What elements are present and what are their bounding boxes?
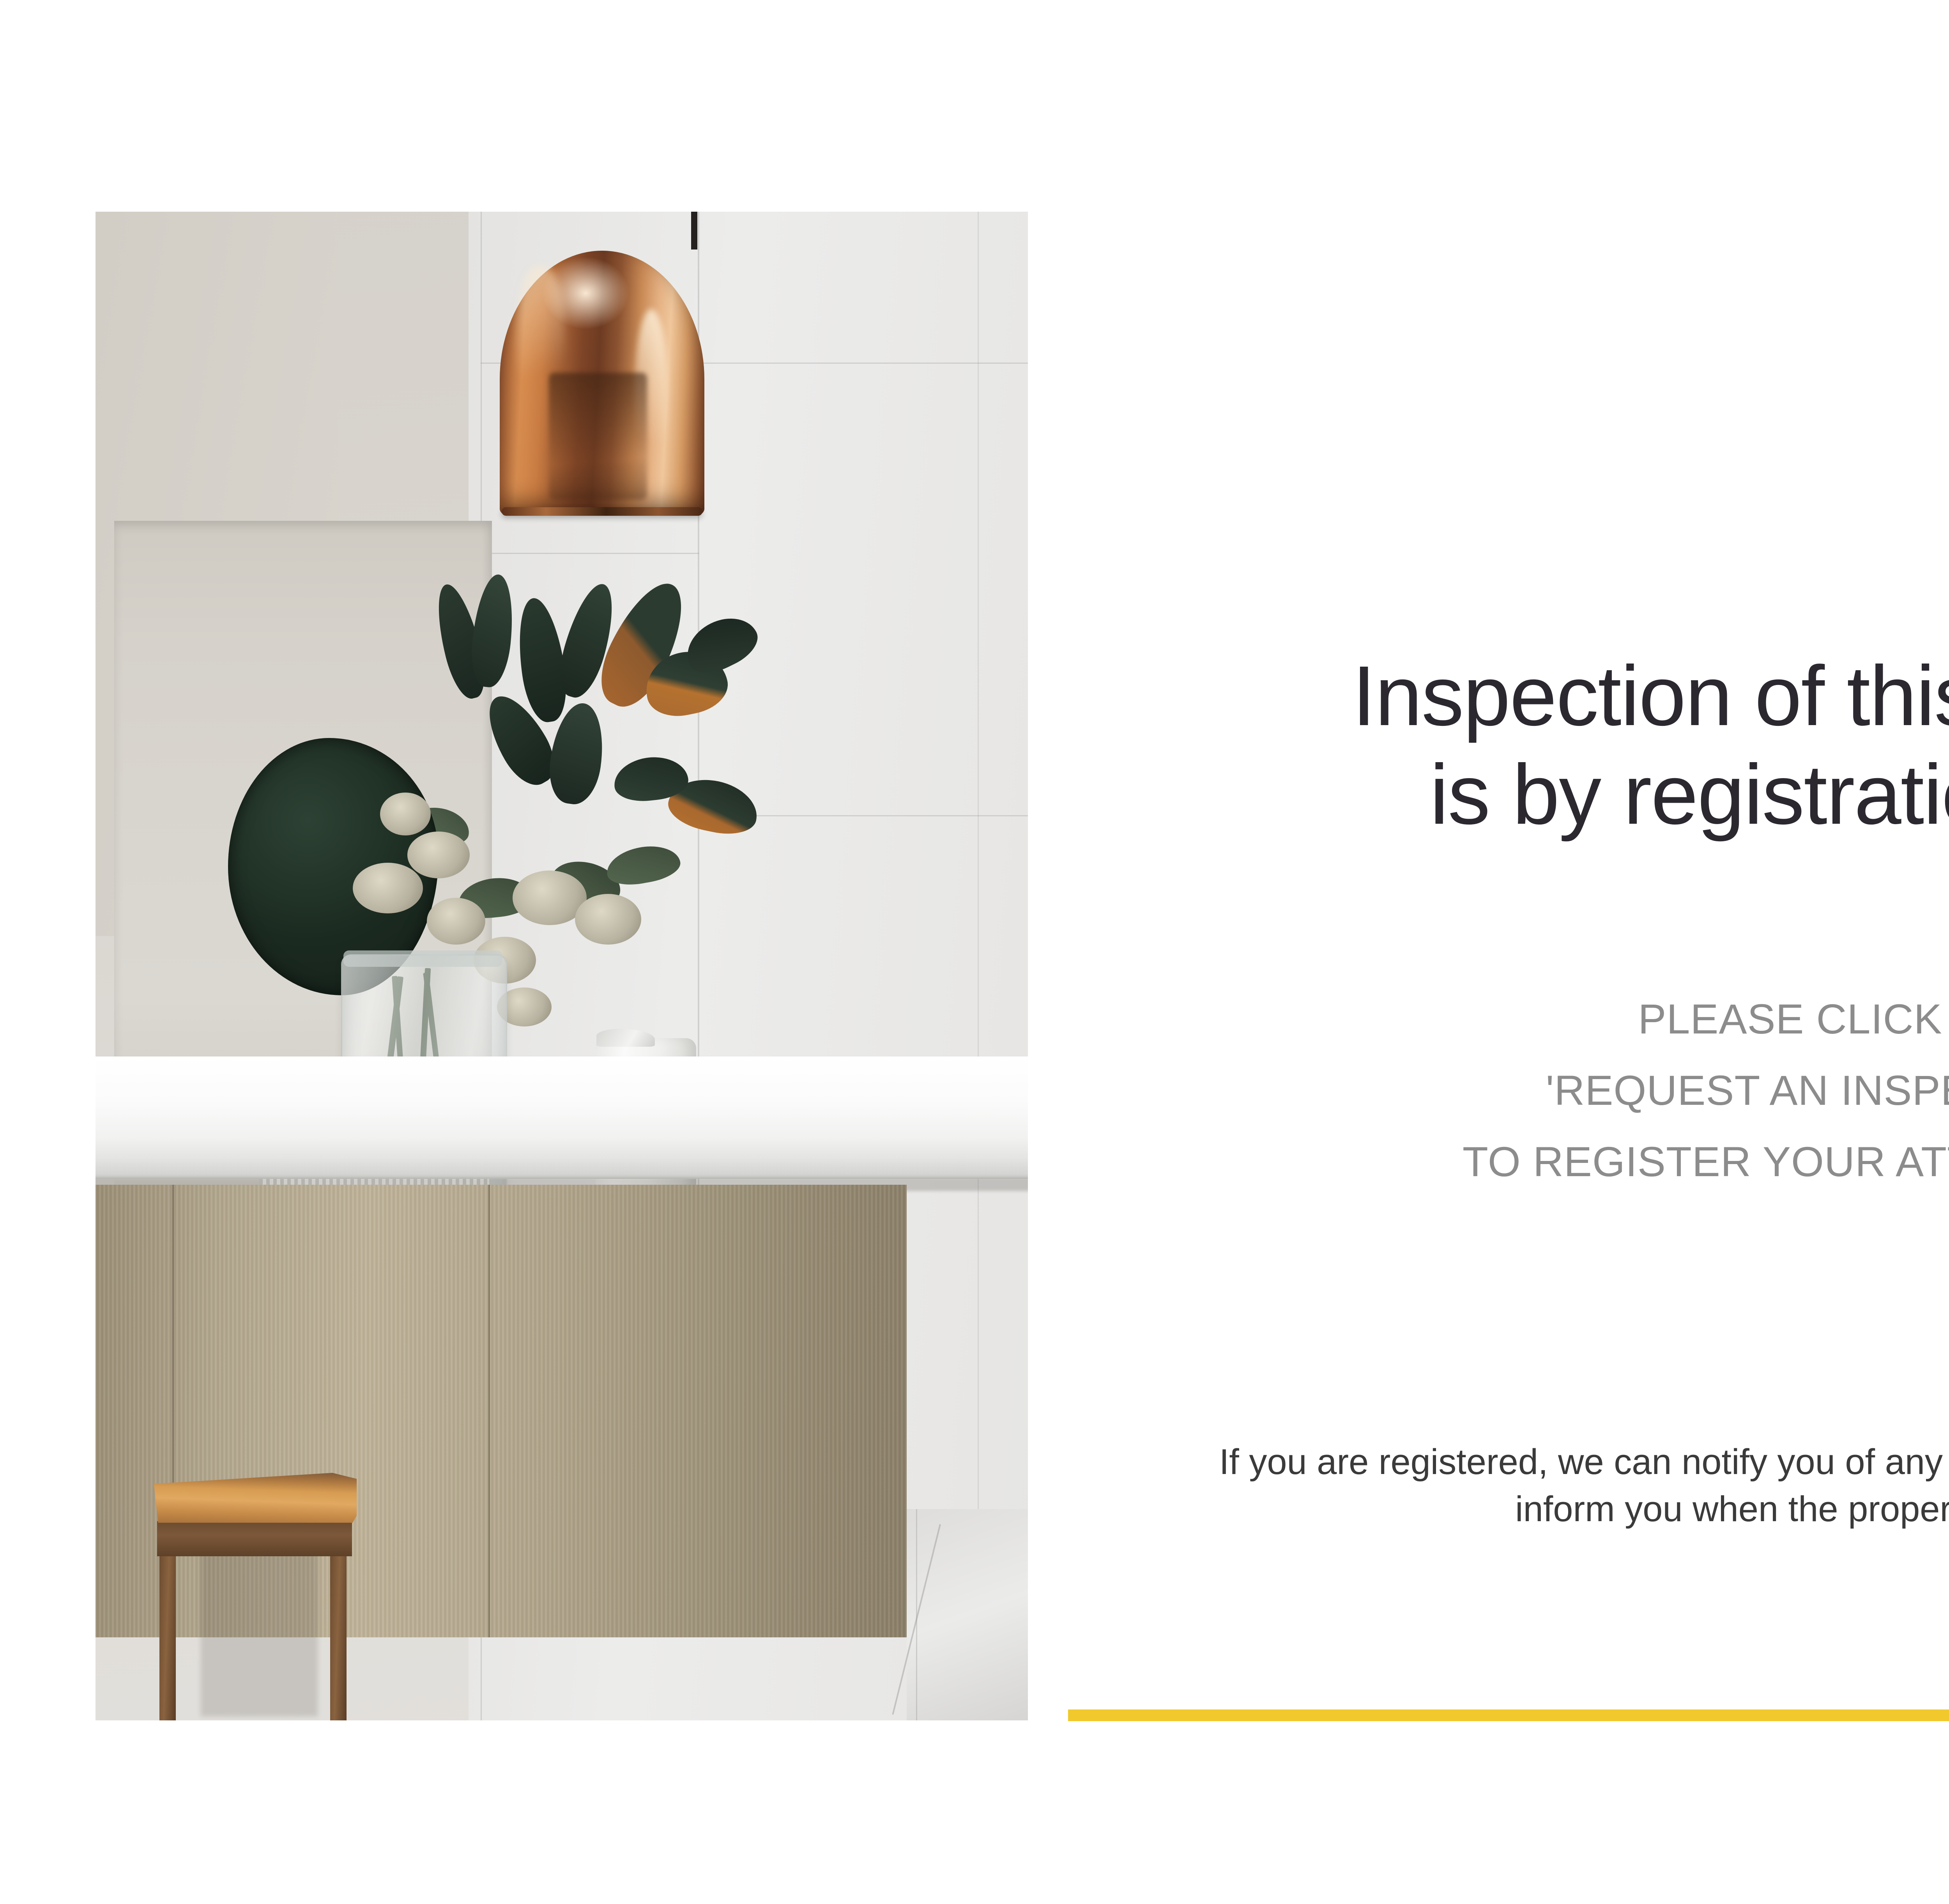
pitcher-spout xyxy=(596,1029,655,1047)
magnolia-leaf xyxy=(468,573,518,689)
eucalyptus-leaf xyxy=(603,841,683,889)
cta-line-1: PLEASE CLICK ON xyxy=(1068,998,1949,1040)
vase-neck xyxy=(343,950,502,967)
berry-cluster xyxy=(353,863,423,913)
stool-leg-left xyxy=(159,1555,176,1720)
cta-line-3: TO REGISTER YOUR ATTENDANCE. xyxy=(1068,1141,1949,1183)
note-line-1: If you are registered, we can notify you… xyxy=(1068,1439,1949,1486)
cabinet-seam-vertical-3 xyxy=(978,212,979,1720)
copper-pendant-lamp xyxy=(500,251,704,516)
island-bench-top xyxy=(96,1056,1028,1162)
note-paragraph: If you are registered, we can notify you… xyxy=(1068,1439,1949,1533)
stool-shadow xyxy=(201,1553,318,1716)
berry-cluster xyxy=(575,894,641,945)
cabinet-seam-horizontal-2 xyxy=(481,553,699,554)
headline-line-1: Inspection of this property xyxy=(1068,647,1949,746)
yellow-divider xyxy=(1068,1709,1949,1721)
island-bench-edge xyxy=(96,1156,1028,1179)
floor-tile xyxy=(907,1509,1028,1720)
berry-cluster xyxy=(380,793,431,835)
kitchen-photo xyxy=(96,212,1028,1720)
stool-apron xyxy=(157,1521,352,1556)
stool-seat xyxy=(154,1473,357,1523)
pendant-cord xyxy=(691,212,697,250)
wooden-stool xyxy=(154,1473,357,1720)
note-line-2: inform you when the property is leased. xyxy=(1068,1486,1949,1533)
berry-cluster xyxy=(407,832,470,878)
cta-block: PLEASE CLICK ON 'REQUEST AN INSPECTION' … xyxy=(1068,998,1949,1183)
berry-cluster xyxy=(427,898,485,945)
lamp-reflection xyxy=(549,373,647,500)
page-title: Inspection of this property is by regist… xyxy=(1068,647,1949,844)
stool-leg-right xyxy=(330,1555,347,1720)
lamp-rim xyxy=(502,507,702,516)
flyer-page: RayWhite ® Inspection of this property i… xyxy=(0,0,1949,1904)
cta-line-2[interactable]: 'REQUEST AN INSPECTION' xyxy=(1068,1069,1949,1111)
headline-line-2: is by registration only. xyxy=(1068,746,1949,844)
island-panel-seam-2 xyxy=(488,1185,490,1637)
